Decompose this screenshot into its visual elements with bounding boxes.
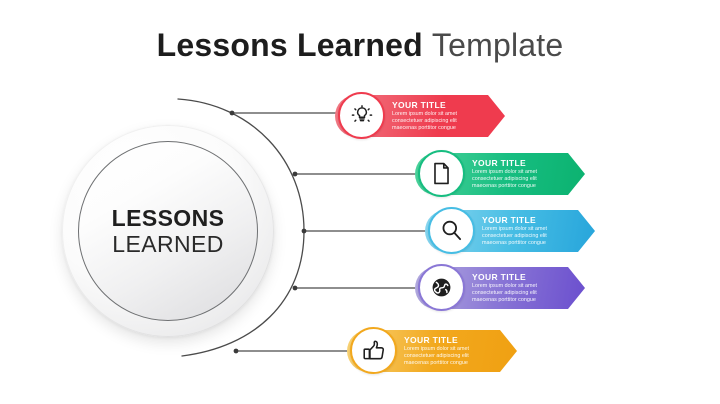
magnifier-icon <box>440 219 463 242</box>
banner-item-5[interactable]: YOUR TITLE Lorem ipsum dolor sit amet co… <box>347 330 517 372</box>
icon-badge-1[interactable] <box>338 92 385 139</box>
banner-desc-5-line3: maecenas porttitor congue <box>404 360 469 367</box>
icon-badge-5[interactable] <box>350 327 397 374</box>
banner-title-3: YOUR TITLE <box>482 215 547 226</box>
banner-desc-2-line1: Lorem ipsum dolor sit amet <box>472 169 537 176</box>
banner-desc-3-line1: Lorem ipsum dolor sit amet <box>482 226 547 233</box>
banner-item-3[interactable]: YOUR TITLE Lorem ipsum dolor sit amet co… <box>425 210 595 252</box>
banner-desc-3-line2: consectetuer adipiscing elit <box>482 233 547 240</box>
junction-dot-3 <box>302 229 307 234</box>
banner-title-2: YOUR TITLE <box>472 158 537 169</box>
icon-badge-2[interactable] <box>418 150 465 197</box>
banner-desc-4-line2: consectetuer adipiscing elit <box>472 290 537 297</box>
page-title-light: Template <box>432 27 563 63</box>
page-title-strong: Lessons Learned <box>157 27 423 63</box>
banner-item-2[interactable]: YOUR TITLE Lorem ipsum dolor sit amet co… <box>415 153 585 195</box>
junction-dot-2 <box>293 172 298 177</box>
lightbulb-icon <box>351 105 373 127</box>
document-icon <box>431 162 452 185</box>
banner-desc-3-line3: maecenas porttitor congue <box>482 240 547 247</box>
banner-desc-5-line2: consectetuer adipiscing elit <box>404 353 469 360</box>
hub-label-line2: LEARNED <box>112 231 223 257</box>
infographic-slide: Lessons Learned Template LESSONS LEARNED <box>0 0 720 404</box>
icon-badge-4[interactable] <box>418 264 465 311</box>
icon-badge-3[interactable] <box>428 207 475 254</box>
central-hub: LESSONS LEARNED <box>62 125 274 337</box>
banner-title-5: YOUR TITLE <box>404 335 469 346</box>
banner-title-1: YOUR TITLE <box>392 100 457 111</box>
junction-dot-4 <box>293 286 298 291</box>
banner-desc-5-line1: Lorem ipsum dolor sit amet <box>404 346 469 353</box>
hub-label-line1: LESSONS <box>112 205 225 231</box>
banner-desc-1-line1: Lorem ipsum dolor sit amet <box>392 111 457 118</box>
junction-dot-5 <box>234 349 239 354</box>
hub-inner-disc: LESSONS LEARNED <box>78 141 258 321</box>
banner-item-4[interactable]: YOUR TITLE Lorem ipsum dolor sit amet co… <box>415 267 585 309</box>
banner-desc-2-line2: consectetuer adipiscing elit <box>472 176 537 183</box>
banner-title-4: YOUR TITLE <box>472 272 537 283</box>
banner-desc-2-line3: maecenas porttitor congue <box>472 183 537 190</box>
junction-dot-1 <box>230 111 235 116</box>
page-title: Lessons Learned Template <box>0 27 720 64</box>
thumbs-up-icon <box>362 339 386 362</box>
banner-desc-4-line1: Lorem ipsum dolor sit amet <box>472 283 537 290</box>
banner-desc-4-line3: maecenas porttitor congue <box>472 297 537 304</box>
banner-item-1[interactable]: YOUR TITLE Lorem ipsum dolor sit amet co… <box>335 95 505 137</box>
banner-desc-1-line2: consectetuer adipiscing elit <box>392 118 457 125</box>
globe-icon <box>430 276 453 299</box>
banner-desc-1-line3: maecenas porttitor congue <box>392 125 457 132</box>
